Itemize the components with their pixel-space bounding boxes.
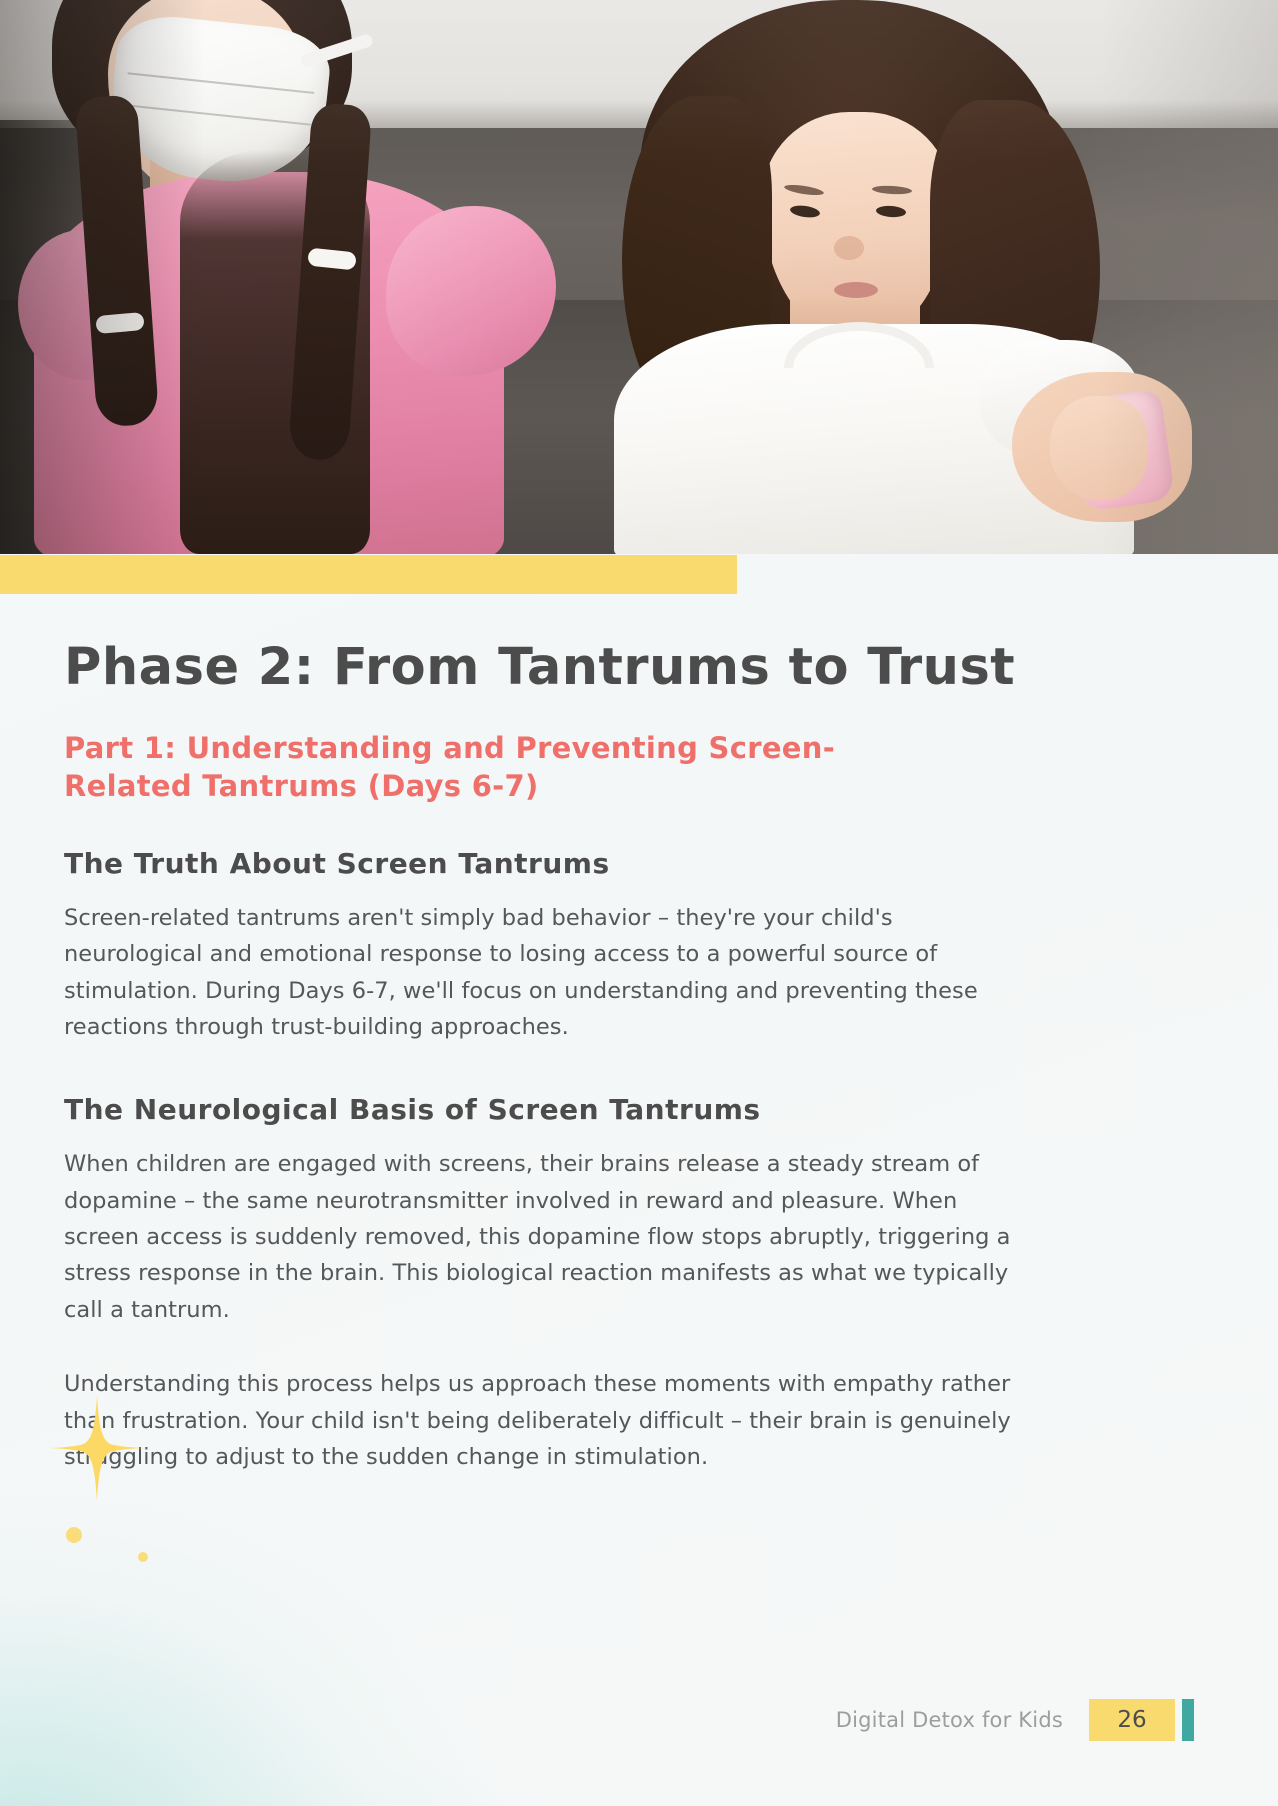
dot-icon <box>66 1527 82 1543</box>
page-content: Phase 2: From Tantrums to Trust Part 1: … <box>64 640 1224 1476</box>
section-paragraph: When children are engaged with screens, … <box>64 1146 1024 1328</box>
section-paragraph: Screen-related tantrums aren't simply ba… <box>64 900 1024 1046</box>
footer-book-title: Digital Detox for Kids <box>836 1708 1063 1732</box>
dot-icon <box>138 1552 148 1562</box>
hero-photo-illustration <box>0 0 1278 554</box>
section-heading-truth-about-screen-tantrums: The Truth About Screen Tantrums <box>64 846 1224 882</box>
photo-vignette <box>0 0 1278 554</box>
section-heading-neurological-basis: The Neurological Basis of Screen Tantrum… <box>64 1092 1224 1128</box>
page-number-badge: 26 <box>1089 1699 1175 1741</box>
page-subtitle: Part 1: Understanding and Preventing Scr… <box>64 729 944 806</box>
footer-teal-tab <box>1182 1699 1194 1741</box>
ebook-page: Phase 2: From Tantrums to Trust Part 1: … <box>0 0 1278 1806</box>
hero-photo <box>0 0 1278 554</box>
page-footer: Digital Detox for Kids 26 <box>0 1698 1278 1742</box>
section-paragraph: Understanding this process helps us appr… <box>64 1366 1024 1475</box>
page-title: Phase 2: From Tantrums to Trust <box>64 640 1224 695</box>
yellow-accent-bar <box>0 555 737 594</box>
sparkle-icon <box>42 1393 152 1503</box>
